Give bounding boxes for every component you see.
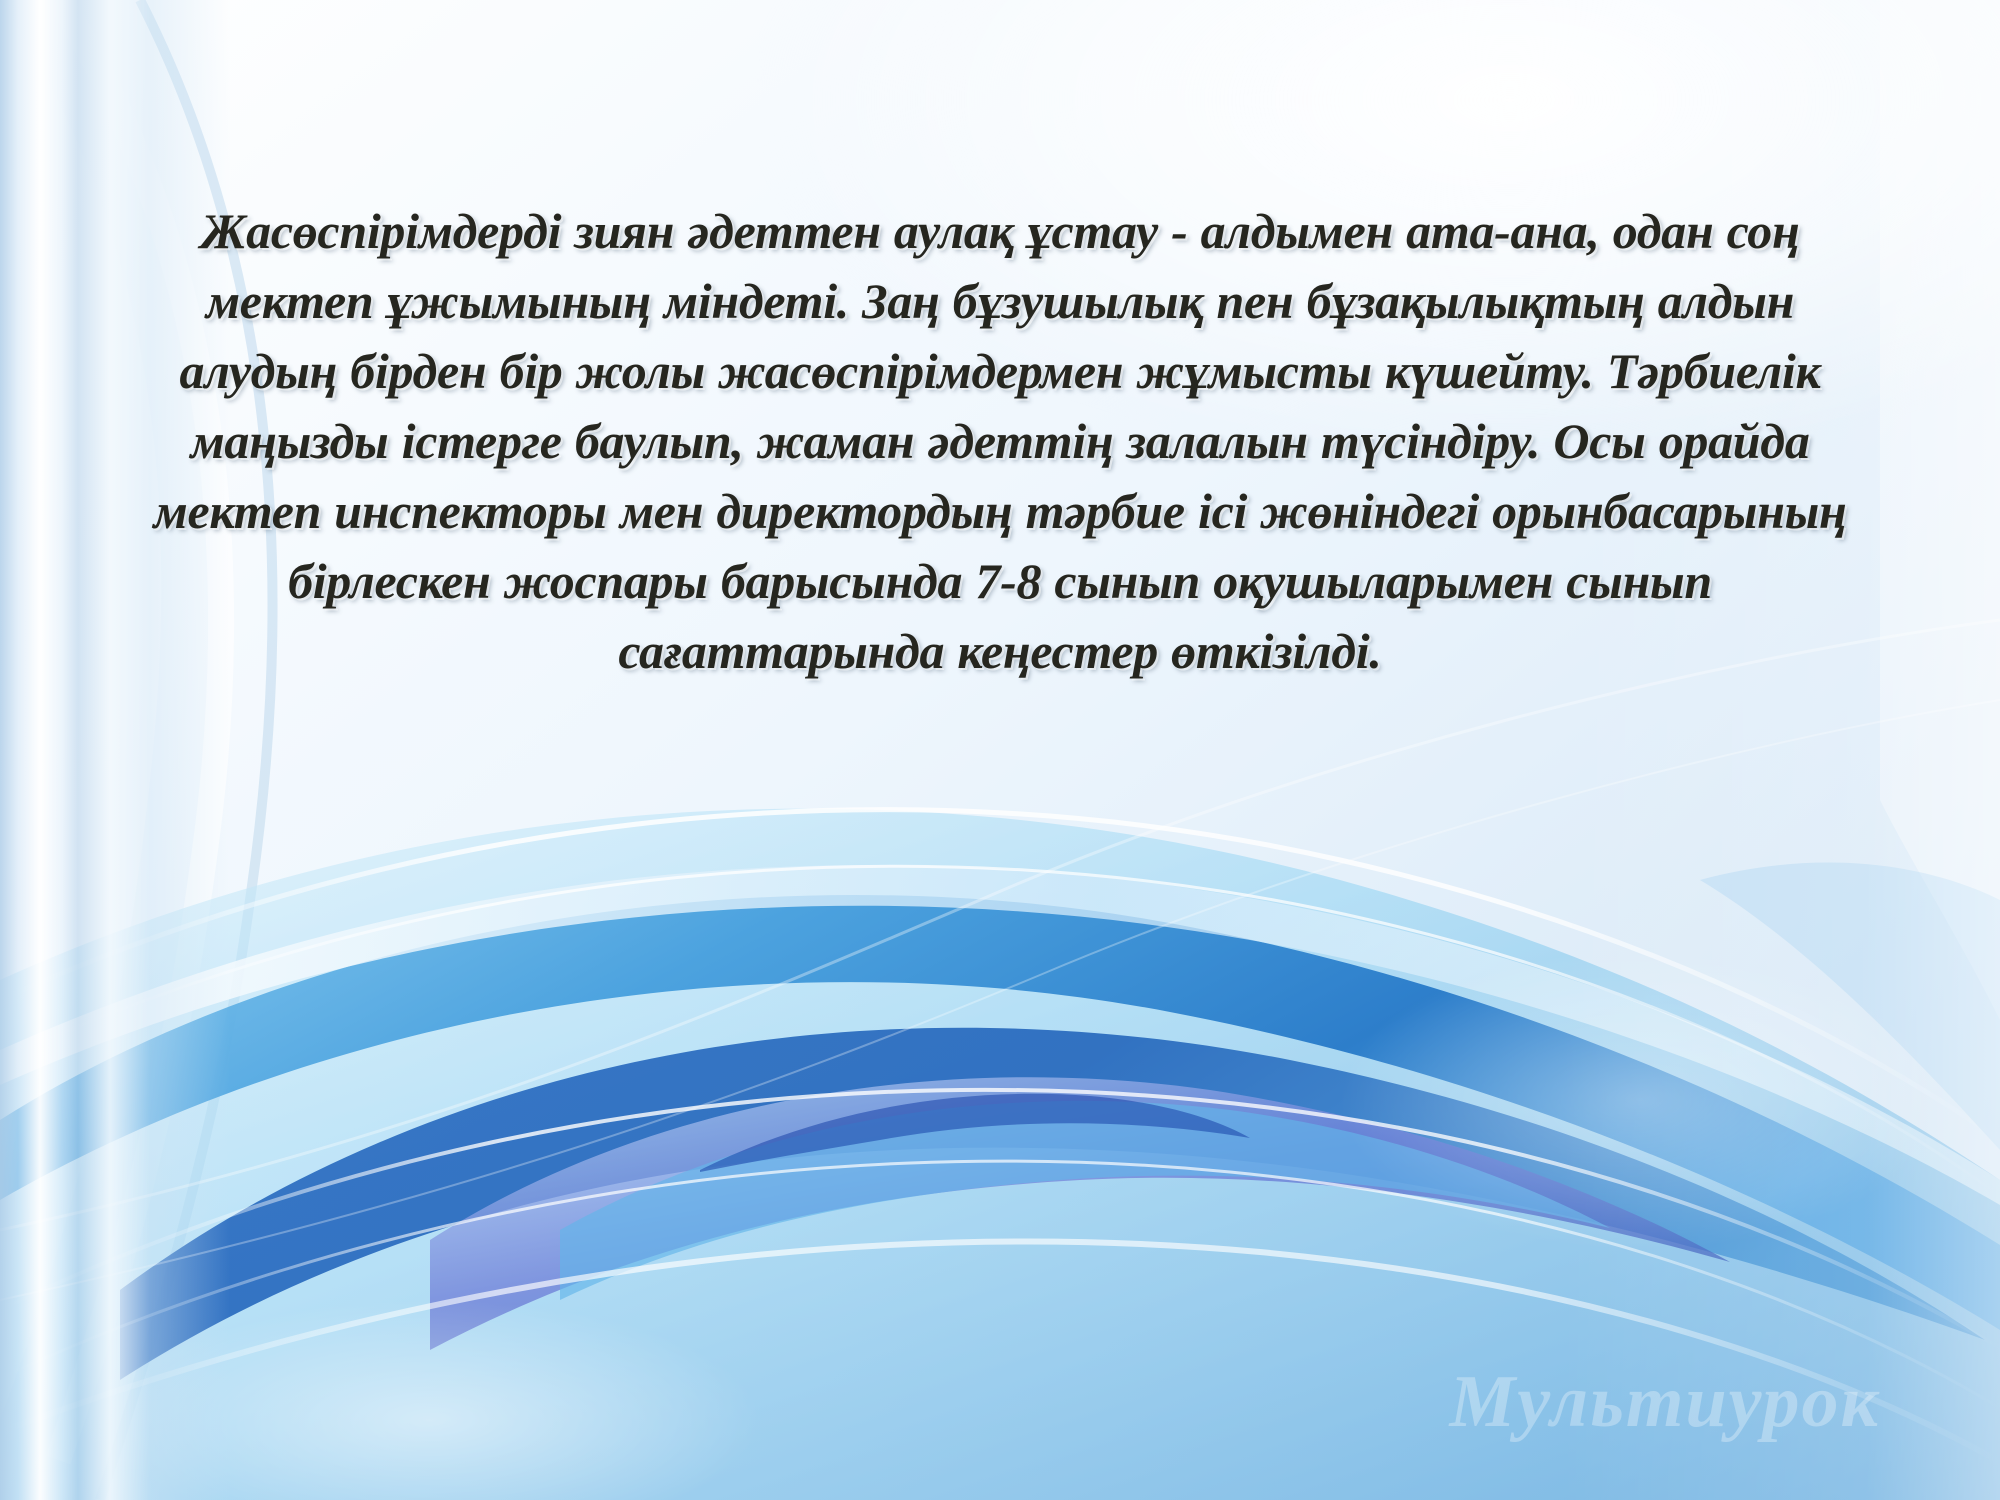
slide-body-paragraph: Жасөспірімдерді зиян әдеттен аулақ ұстау… xyxy=(150,196,1850,686)
slide-canvas: Жасөспірімдерді зиян әдеттен аулақ ұстау… xyxy=(0,0,2000,1500)
slide-text-block: Жасөспірімдерді зиян әдеттен аулақ ұстау… xyxy=(150,196,1850,686)
watermark-text: Мультиурок xyxy=(1449,1360,1880,1445)
